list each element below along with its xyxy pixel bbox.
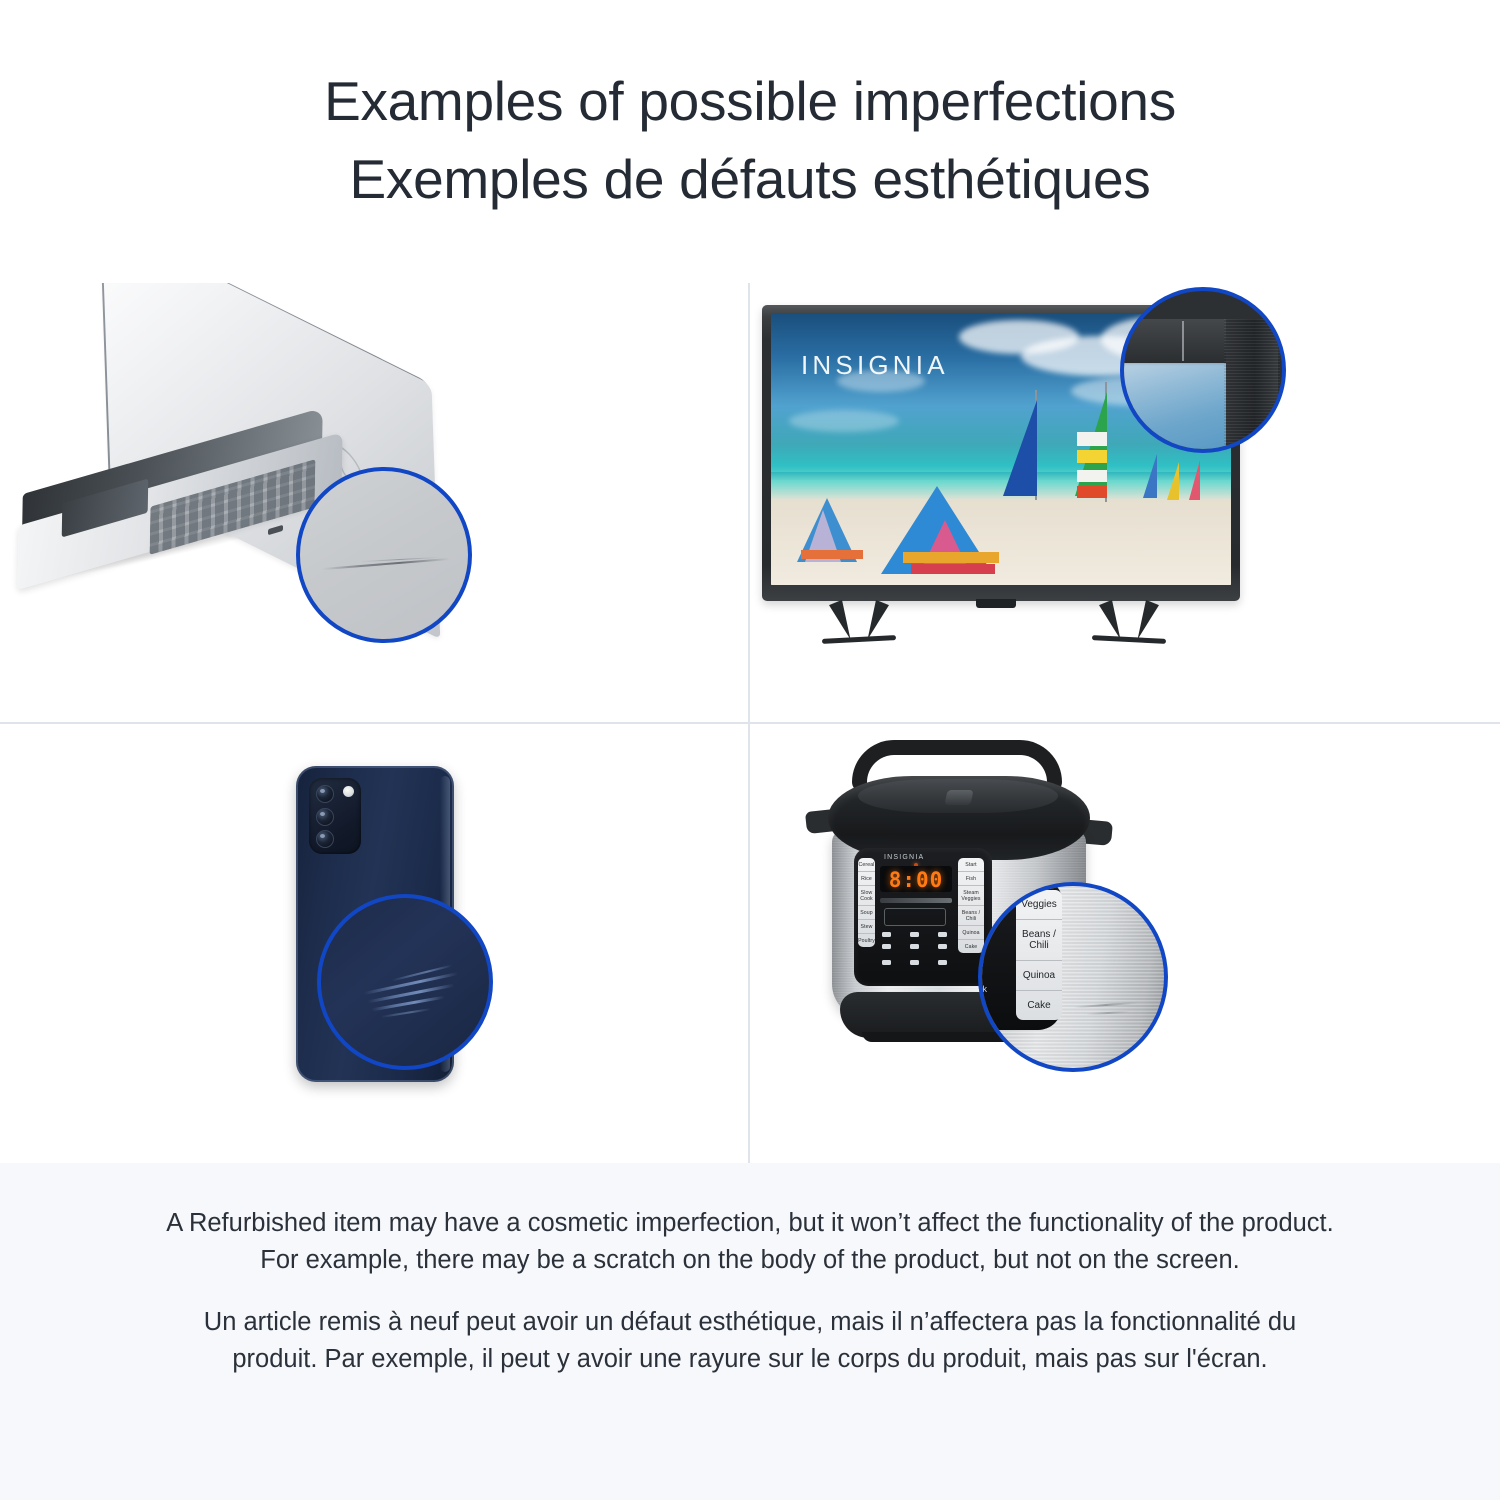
sailboat-sail-blue: [1003, 400, 1037, 496]
panel-smartphone: [0, 724, 748, 1163]
sail-stripe-yellow: [1077, 450, 1107, 463]
cooker-button[interactable]: Soup: [858, 906, 875, 920]
title-line-english: Examples of possible imperfections: [0, 62, 1500, 140]
cooker-button[interactable]: Slow Cook: [858, 886, 875, 906]
cooker-mini-button[interactable]: [910, 932, 919, 937]
tv-horizon: [771, 472, 1231, 480]
examples-grid: INSIGNIA: [0, 283, 1500, 1163]
cooker-zoom-side-label: Slow Cook: [978, 984, 987, 994]
sail-stripe-red: [1077, 486, 1107, 498]
cooker-pressure-slider[interactable]: [880, 898, 952, 903]
cooker-button[interactable]: Fish: [958, 872, 984, 886]
panel-laptop: [0, 283, 748, 722]
cooker-mini-button[interactable]: [910, 944, 919, 949]
cooker-button[interactable]: Quinoa: [958, 926, 984, 940]
cooker-button[interactable]: Cake: [958, 940, 984, 953]
cloud-shape: [789, 410, 899, 432]
phone-scratch-mark-5: [381, 1008, 431, 1018]
tv-brand-label: INSIGNIA: [801, 350, 949, 381]
tv-foot-base-right: [1092, 635, 1166, 644]
camera-lens-1: [316, 785, 334, 803]
cooker-display: 8:00: [880, 866, 952, 892]
panel-pressure-cooker: INSIGNIA 8:00 Cereal Rice Slow Cook Soup…: [750, 724, 1498, 1163]
cooker-zoom-button[interactable]: Beans / Chili: [1016, 920, 1062, 961]
beached-sail-stripe-red: [911, 564, 995, 574]
cooker-control-panel: INSIGNIA 8:00 Cereal Rice Slow Cook Soup…: [854, 848, 992, 986]
sailboat-sail-small: [1167, 462, 1179, 500]
cooker-button[interactable]: Cereal: [858, 858, 875, 872]
cooker-steam-valve: [944, 790, 973, 805]
cooker-mode-box: [884, 908, 946, 926]
cooker-zoom-button[interactable]: Quinoa: [1016, 961, 1062, 991]
footer-description: A Refurbished item may have a cosmetic i…: [0, 1163, 1500, 1500]
camera-lens-2: [316, 808, 334, 826]
cooker-button-column-left[interactable]: Cereal Rice Slow Cook Soup Stew Poultry: [858, 858, 875, 947]
magnifier-circle-phone: [317, 894, 493, 1070]
tv-foot-left: [829, 600, 857, 642]
magnifier-circle-laptop: [296, 467, 472, 643]
cooker-mini-button[interactable]: [938, 960, 947, 965]
camera-lens-3: [316, 830, 334, 848]
sail-stripe-white: [1077, 470, 1107, 482]
cooker-button[interactable]: Rice: [858, 872, 875, 886]
cooker-zoom-button[interactable]: Cake: [1016, 991, 1062, 1020]
cooker-mini-button[interactable]: [882, 960, 891, 965]
cooker-button[interactable]: Poultry: [858, 934, 875, 947]
sailboat-sail-small: [1189, 460, 1200, 500]
cooker-button[interactable]: Steam Veggies: [958, 886, 984, 906]
panel-television: INSIGNIA: [750, 283, 1498, 722]
camera-flash-icon: [343, 786, 354, 797]
sail-stripe-white: [1077, 432, 1107, 446]
magnifier-circle-tv: [1120, 287, 1286, 453]
cooker-mini-button[interactable]: [882, 932, 891, 937]
beached-sail-stripe-orange: [903, 552, 999, 563]
footer-paragraph-french: Un article remis à neuf peut avoir un dé…: [160, 1304, 1340, 1377]
tv-ir-sensor: [976, 599, 1016, 608]
title-line-french: Exemples de défauts esthétiques: [0, 140, 1500, 218]
tv-zoom-bezel-texture: [1224, 319, 1280, 453]
laptop-illustration: [0, 283, 748, 722]
cooker-display-value: 8:00: [880, 868, 952, 892]
cooker-mini-button[interactable]: [938, 944, 947, 949]
tv-illustration: INSIGNIA: [750, 283, 1498, 722]
cooker-button[interactable]: Beans / Chili: [958, 906, 984, 926]
cooker-mini-button[interactable]: [938, 932, 947, 937]
tv-zoom-screen-area: [1120, 361, 1230, 453]
infographic-page: Examples of possible imperfections Exemp…: [0, 0, 1500, 1500]
tv-foot-base-left: [822, 635, 896, 644]
beached-sail-stripe-orange: [801, 550, 863, 559]
footer-paragraph-english: A Refurbished item may have a cosmetic i…: [160, 1205, 1340, 1278]
cooker-button[interactable]: Start: [958, 858, 984, 872]
cooker-mini-button[interactable]: [882, 944, 891, 949]
magnifier-circle-cooker: Delay Slow Cook Veggies Beans / Chili Qu…: [978, 882, 1168, 1072]
cooker-brand-label: INSIGNIA: [884, 854, 924, 861]
tv-foot-right2: [1131, 600, 1159, 642]
cooker-button[interactable]: Stew: [858, 920, 875, 934]
tv-scratch-mark: [1182, 321, 1184, 361]
page-title: Examples of possible imperfections Exemp…: [0, 62, 1500, 218]
phone-illustration: [0, 724, 748, 1163]
cooker-zoom-button-column[interactable]: Veggies Beans / Chili Quinoa Cake: [1016, 890, 1062, 1020]
cooker-zoom-button[interactable]: Veggies: [1016, 890, 1062, 920]
phone-scratch-mark-2: [368, 984, 455, 1003]
sailboat-sail-small: [1143, 454, 1157, 498]
phone-camera-module: [309, 778, 361, 854]
cooker-mini-button[interactable]: [910, 960, 919, 965]
cooker-illustration: INSIGNIA 8:00 Cereal Rice Slow Cook Soup…: [750, 724, 1498, 1163]
cooker-button-column-right[interactable]: Start Fish Steam Veggies Beans / Chili Q…: [958, 858, 984, 953]
